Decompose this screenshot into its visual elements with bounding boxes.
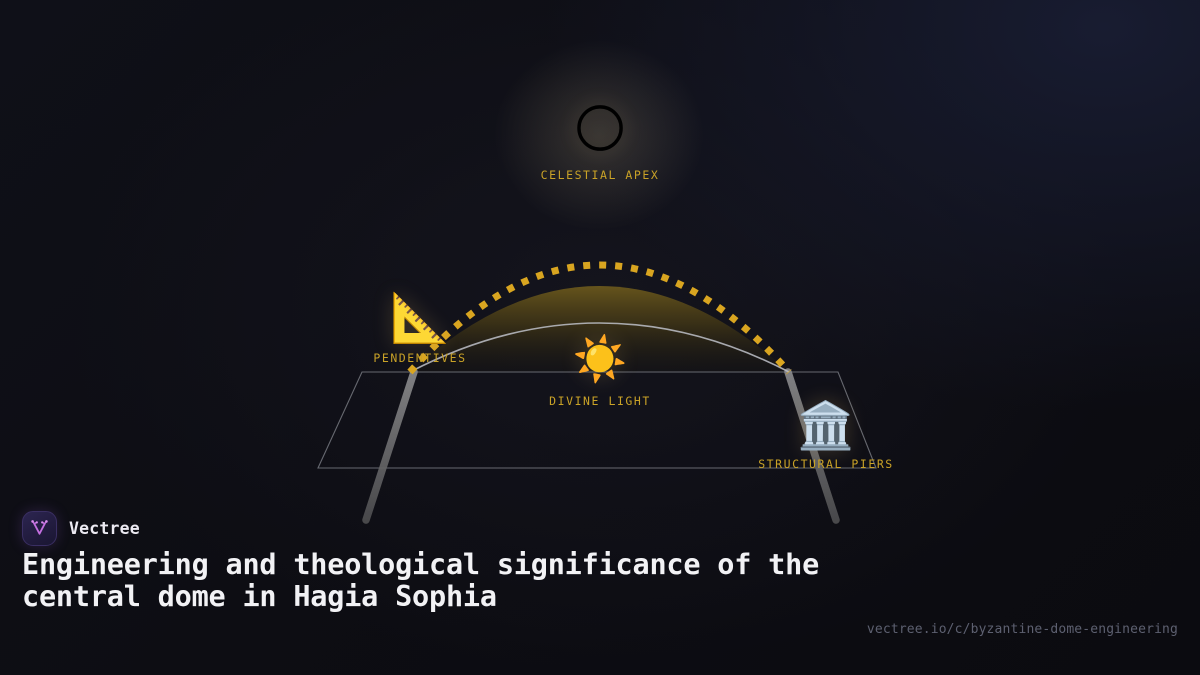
node-label-structural-piers: STRUCTURAL PIERS <box>744 457 908 471</box>
classical-building-icon: 🏛️ <box>744 402 908 448</box>
node-label-celestial-apex: CELESTIAL APEX <box>0 168 1200 182</box>
brand-name: Vectree <box>69 519 140 538</box>
node-label-divine-light: DIVINE LIGHT <box>0 394 1200 408</box>
node-celestial-apex: 🌕 CELESTIAL APEX <box>0 104 1200 182</box>
node-divine-light: ☀️ DIVINE LIGHT <box>0 338 1200 408</box>
node-structural-piers: 🏛️ STRUCTURAL PIERS <box>744 402 908 471</box>
vectree-branching-v-icon <box>22 511 57 546</box>
moon-icon: 🌕 <box>0 104 1200 156</box>
sun-icon: ☀️ <box>0 338 1200 382</box>
permalink: vectree.io/c/byzantine-dome-engineering <box>867 622 1178 637</box>
brand-lockup: Vectree <box>22 511 140 546</box>
page-title: Engineering and theological significance… <box>22 549 832 614</box>
triangular-ruler-icon: 📐 <box>338 294 502 342</box>
poster-canvas: 🌕 CELESTIAL APEX 📐 PENDENTIVES ☀️ DIVINE… <box>0 0 1200 675</box>
